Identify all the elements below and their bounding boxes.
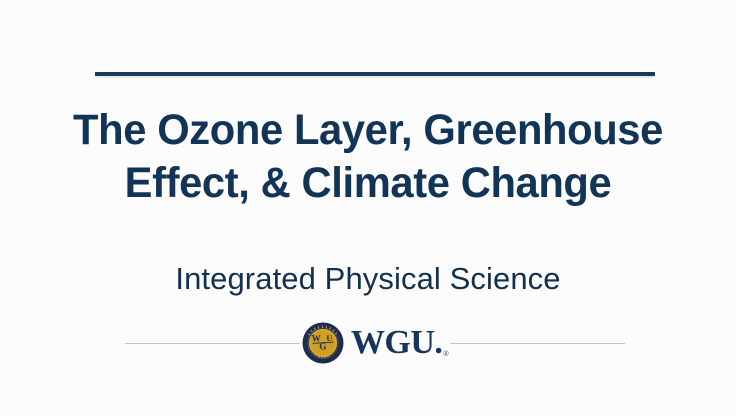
title-line-1: The Ozone Layer, Greenhouse bbox=[11, 104, 725, 157]
wgu-wordmark-dot: . bbox=[434, 326, 442, 360]
wgu-seal-icon: W U G bbox=[302, 322, 344, 364]
wgu-wordmark-text: WGU bbox=[351, 326, 435, 360]
page-subtitle: Integrated Physical Science bbox=[0, 260, 736, 298]
top-divider bbox=[95, 72, 655, 80]
footer-logo-lockup: W U G WGU . ® bbox=[125, 318, 625, 368]
footer-divider-left bbox=[125, 343, 300, 344]
registered-mark-icon: ® bbox=[443, 351, 448, 358]
title-slide: The Ozone Layer, Greenhouse Effect, & Cl… bbox=[0, 0, 736, 416]
page-title: The Ozone Layer, Greenhouse Effect, & Cl… bbox=[0, 104, 736, 210]
top-divider-line bbox=[95, 72, 655, 76]
wgu-logo: W U G WGU . ® bbox=[300, 320, 450, 366]
footer-divider-right bbox=[450, 343, 625, 344]
svg-text:U: U bbox=[326, 334, 332, 343]
wgu-wordmark: WGU . ® bbox=[351, 326, 448, 360]
title-line-2: Effect, & Climate Change bbox=[11, 157, 725, 210]
